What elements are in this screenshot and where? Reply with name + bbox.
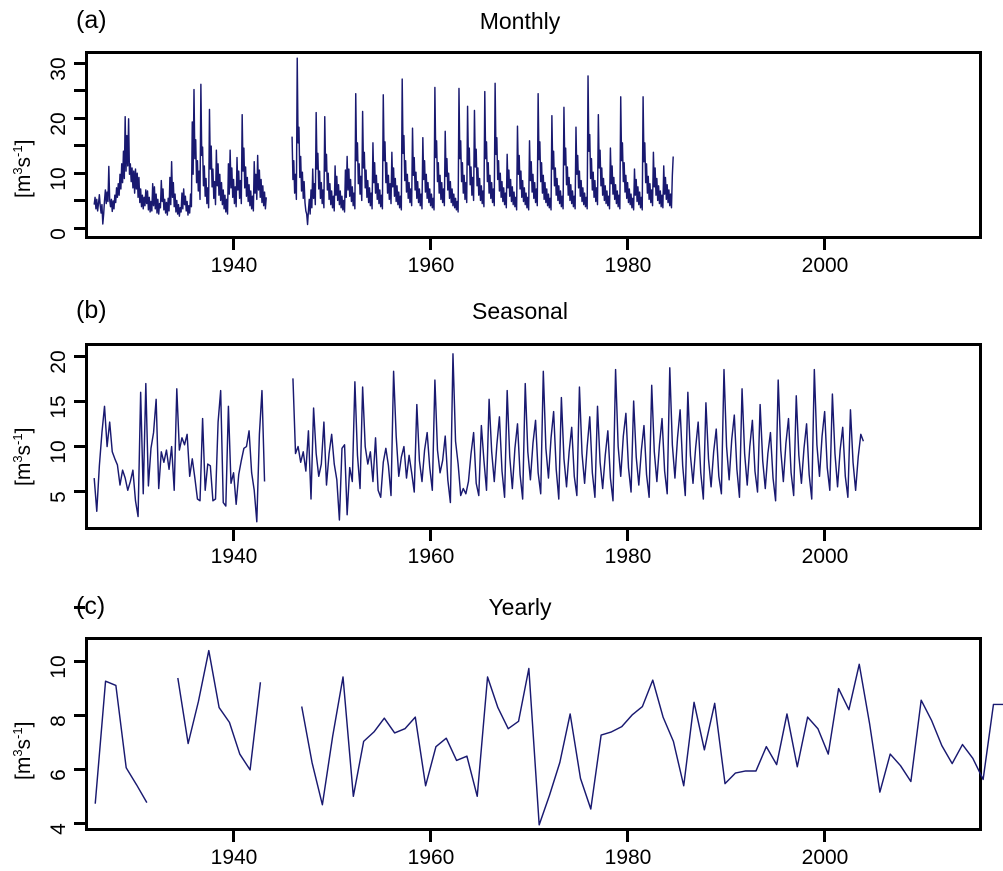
xtick-mark	[429, 831, 432, 842]
ytick-label-b-5: 5	[47, 480, 71, 514]
xtick-label-c-1980: 1980	[578, 846, 678, 870]
ytick-mark	[74, 62, 85, 65]
xtick-mark	[626, 239, 629, 250]
ytick-mark	[74, 172, 85, 175]
panel-letter-b: (b)	[76, 296, 107, 325]
ytick-label-a-20: 20	[47, 107, 71, 141]
xtick-mark	[232, 530, 235, 541]
ytick-mark	[74, 490, 85, 493]
ytick-mark	[74, 822, 85, 825]
plot-area-yearly	[85, 637, 982, 831]
panel-yearly: (c) Yearly [m3s-1] 4 6 8 10 1940 1960 19…	[0, 580, 1003, 871]
monthly-series-line	[88, 54, 979, 236]
xtick-mark	[232, 239, 235, 250]
ytick-label-b-15: 15	[47, 390, 71, 424]
panel-title-yearly: Yearly	[370, 594, 670, 621]
ytick-label-b-20: 20	[47, 345, 71, 379]
xtick-label-b-1940: 1940	[184, 545, 284, 569]
ytick-label-c-10: 10	[47, 650, 71, 684]
xtick-label-b-2000: 2000	[775, 545, 875, 569]
ytick-label-a-0: 0	[47, 217, 71, 251]
ytick-mark	[74, 117, 85, 120]
yearly-series-line	[88, 640, 979, 828]
ytick-label-a-30: 30	[47, 52, 71, 86]
ytick-mark	[74, 400, 85, 403]
panel-monthly: (a) Monthly [m3s-1] 0 10 20 30 1940 1960…	[0, 0, 1003, 290]
xtick-mark	[232, 831, 235, 842]
xtick-mark	[429, 239, 432, 250]
ytick-mark	[74, 445, 85, 448]
xtick-label-a-1960: 1960	[381, 254, 481, 278]
xtick-mark	[429, 530, 432, 541]
ytick-label-a-10: 10	[47, 162, 71, 196]
ytick-label-c-4: 4	[47, 812, 71, 846]
plot-area-monthly	[85, 51, 982, 239]
y-axis-label-b: [m3s-1]	[12, 428, 36, 486]
xtick-mark	[626, 831, 629, 842]
xtick-label-b-1980: 1980	[578, 545, 678, 569]
ytick-mark	[74, 89, 85, 92]
y-axis-label-a: [m3s-1]	[12, 140, 36, 198]
ytick-mark	[74, 768, 85, 771]
panel-title-monthly: Monthly	[370, 8, 670, 35]
panel-seasonal: (b) Seasonal [m3s-1] 5 10 15 20 1940 196…	[0, 290, 1003, 580]
panel-letter-a: (a)	[76, 6, 107, 35]
xtick-mark	[626, 530, 629, 541]
y-axis-label-c: [m3s-1]	[12, 722, 36, 780]
ytick-mark	[74, 714, 85, 717]
panel-title-seasonal: Seasonal	[370, 298, 670, 325]
ytick-mark	[74, 144, 85, 147]
xtick-label-a-1980: 1980	[578, 254, 678, 278]
xtick-label-c-1940: 1940	[184, 846, 284, 870]
xtick-label-b-1960: 1960	[381, 545, 481, 569]
plot-area-seasonal	[85, 343, 982, 530]
ytick-mark	[74, 199, 85, 202]
ytick-mark	[74, 227, 85, 230]
xtick-label-c-2000: 2000	[775, 846, 875, 870]
ytick-label-c-6: 6	[47, 758, 71, 792]
xtick-label-a-2000: 2000	[775, 254, 875, 278]
xtick-mark	[823, 831, 826, 842]
xtick-mark	[823, 239, 826, 250]
seasonal-series-line	[88, 346, 979, 527]
ytick-mark	[74, 606, 85, 609]
ytick-label-b-10: 10	[47, 435, 71, 469]
ytick-label-c-8: 8	[47, 704, 71, 738]
xtick-label-a-1940: 1940	[184, 254, 284, 278]
ytick-mark	[74, 355, 85, 358]
xtick-label-c-1960: 1960	[381, 846, 481, 870]
ytick-mark	[74, 660, 85, 663]
xtick-mark	[823, 530, 826, 541]
